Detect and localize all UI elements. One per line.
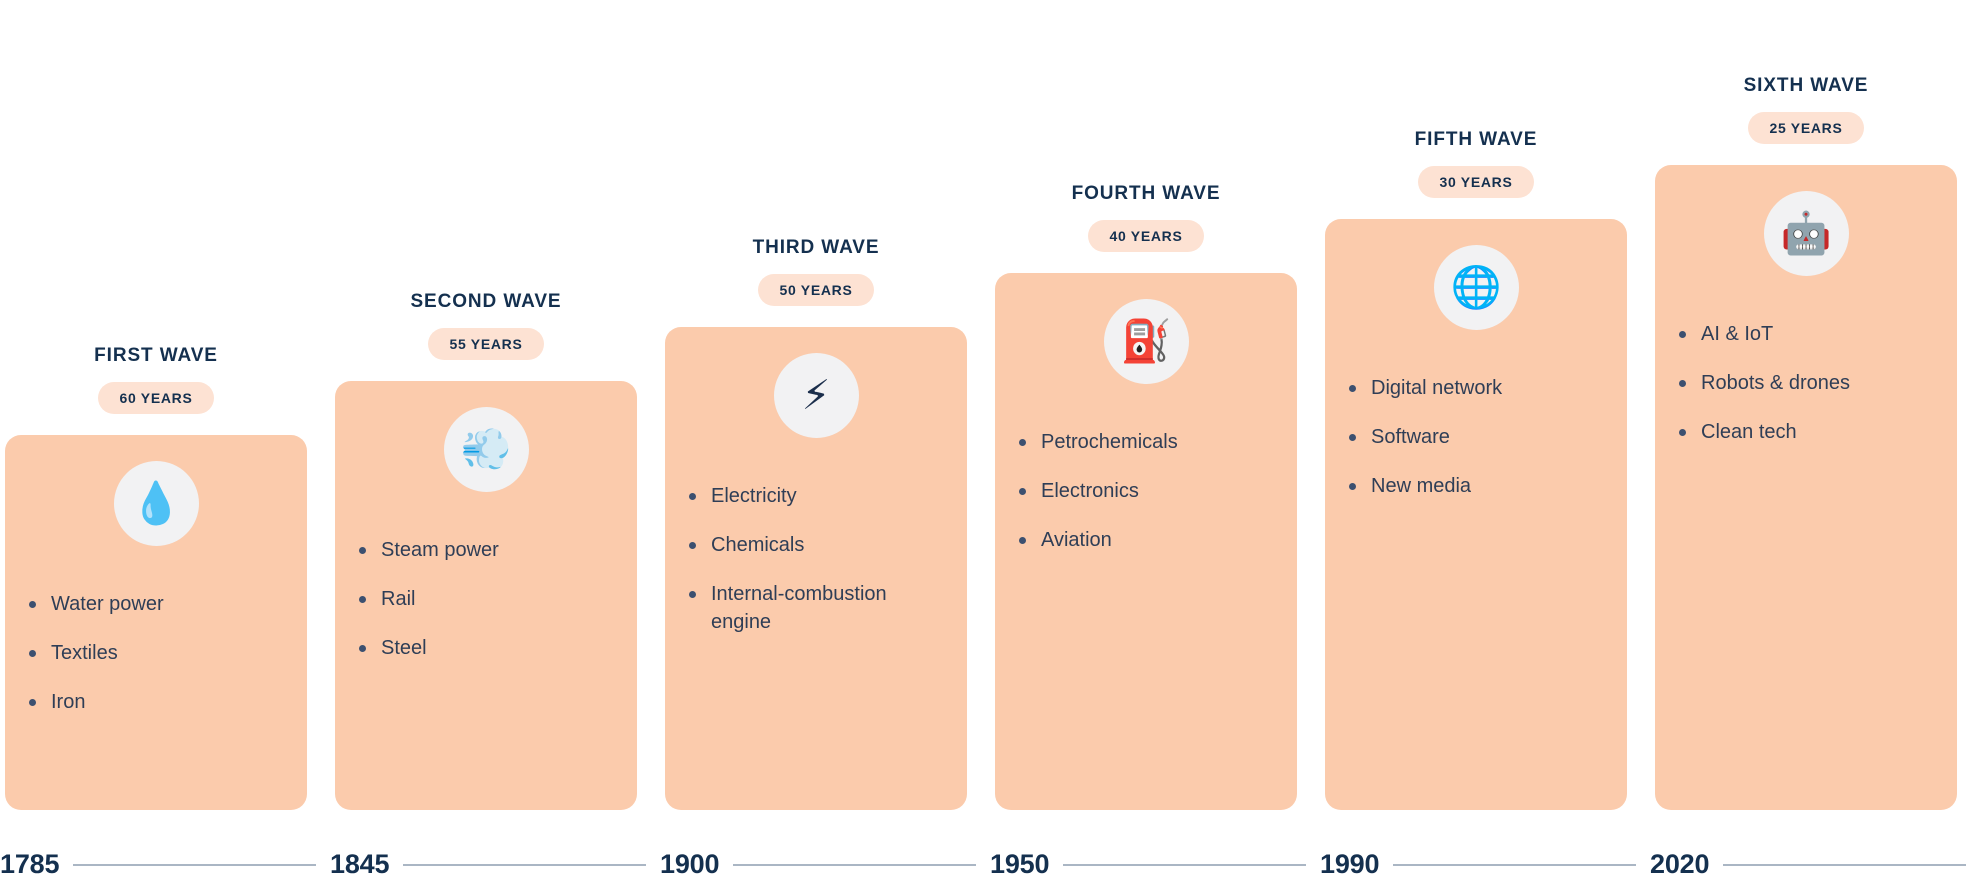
wave-card: 🌐Digital networkSoftwareNew media: [1325, 219, 1627, 810]
wave-card: 🤖AI & IoTRobots & dronesClean tech: [1655, 165, 1957, 810]
timeline-connector-line: [1063, 864, 1306, 866]
list-item: Textiles: [27, 639, 285, 667]
list-item: Chemicals: [687, 531, 945, 559]
wave-title: THIRD WAVE: [753, 238, 880, 257]
wave-duration-badge: 50 YEARS: [758, 274, 873, 306]
wave-column: SIXTH WAVE25 YEARS🤖AI & IoTRobots & dron…: [1655, 0, 1957, 810]
list-item: Petrochemicals: [1017, 428, 1275, 456]
list-item: Digital network: [1347, 374, 1605, 402]
robot-icon-glyph: 🤖: [1780, 213, 1831, 254]
list-item: AI & IoT: [1677, 320, 1935, 348]
timeline-tick: 1990: [1320, 851, 1650, 878]
timeline-tick: 1845: [330, 851, 660, 878]
list-item: Electronics: [1017, 477, 1275, 505]
wave-item-list: Digital networkSoftwareNew media: [1325, 374, 1627, 521]
timeline-year-label: 1990: [1320, 851, 1379, 878]
wave-title: FIRST WAVE: [94, 346, 218, 365]
wave-card: 💧Water powerTextilesIron: [5, 435, 307, 810]
list-item: Clean tech: [1677, 418, 1935, 446]
lightning-bolt-icon-glyph: ⚡: [802, 375, 831, 416]
wave-column: SECOND WAVE55 YEARS💨Steam powerRailSteel: [335, 0, 637, 810]
timeline-year-label: 1950: [990, 851, 1049, 878]
wave-item-list: Steam powerRailSteel: [335, 536, 637, 683]
timeline: 178518451900195019902020: [0, 845, 1980, 884]
list-item: Electricity: [687, 482, 945, 510]
timeline-tick: 1785: [0, 851, 330, 878]
list-item: Iron: [27, 688, 285, 716]
timeline-tick: 2020: [1650, 851, 1980, 878]
wave-column: THIRD WAVE50 YEARS⚡ElectricityChemicalsI…: [665, 0, 967, 810]
wave-column: FOURTH WAVE40 YEARS⛽PetrochemicalsElectr…: [995, 0, 1297, 810]
wave-item-list: AI & IoTRobots & dronesClean tech: [1655, 320, 1957, 467]
wave-column: FIFTH WAVE30 YEARS🌐Digital networkSoftwa…: [1325, 0, 1627, 810]
list-item: Aviation: [1017, 526, 1275, 554]
wave-duration-badge: 60 YEARS: [98, 382, 213, 414]
wave-item-list: PetrochemicalsElectronicsAviation: [995, 428, 1297, 575]
globe-network-icon: 🌐: [1434, 245, 1519, 330]
fuel-pump-icon: ⛽: [1104, 299, 1189, 384]
timeline-connector-line: [403, 864, 646, 866]
waves-row: FIRST WAVE60 YEARS💧Water powerTextilesIr…: [5, 0, 1980, 810]
fuel-pump-icon-glyph: ⛽: [1120, 321, 1171, 362]
steam-cloud-icon: 💨: [444, 407, 529, 492]
wave-card: 💨Steam powerRailSteel: [335, 381, 637, 810]
wave-item-list: Water powerTextilesIron: [5, 590, 307, 737]
list-item: Software: [1347, 423, 1605, 451]
timeline-connector-line: [733, 864, 976, 866]
robot-icon: 🤖: [1764, 191, 1849, 276]
list-item: Water power: [27, 590, 285, 618]
list-item: Steam power: [357, 536, 615, 564]
wave-duration-badge: 55 YEARS: [428, 328, 543, 360]
timeline-tick: 1900: [660, 851, 990, 878]
wave-duration-badge: 25 YEARS: [1748, 112, 1863, 144]
list-item: Steel: [357, 634, 615, 662]
wave-title: SECOND WAVE: [410, 292, 561, 311]
wave-title: FIFTH WAVE: [1415, 130, 1538, 149]
wave-item-list: ElectricityChemicalsInternal-combustion …: [665, 482, 967, 657]
timeline-year-label: 1785: [0, 851, 59, 878]
water-drop-icon-glyph: 💧: [130, 483, 181, 524]
list-item: Rail: [357, 585, 615, 613]
wave-title: SIXTH WAVE: [1744, 76, 1869, 95]
wave-card: ⚡ElectricityChemicalsInternal-combustion…: [665, 327, 967, 810]
list-item: Internal-combustion engine: [687, 580, 945, 636]
list-item: New media: [1347, 472, 1605, 500]
wave-title: FOURTH WAVE: [1072, 184, 1221, 203]
timeline-connector-line: [1723, 864, 1966, 866]
timeline-year-label: 2020: [1650, 851, 1709, 878]
timeline-tick: 1950: [990, 851, 1320, 878]
wave-duration-badge: 30 YEARS: [1418, 166, 1533, 198]
timeline-connector-line: [1393, 864, 1636, 866]
wave-column: FIRST WAVE60 YEARS💧Water powerTextilesIr…: [5, 0, 307, 810]
timeline-connector-line: [73, 864, 316, 866]
list-item: Robots & drones: [1677, 369, 1935, 397]
globe-network-icon-glyph: 🌐: [1450, 267, 1501, 308]
wave-duration-badge: 40 YEARS: [1088, 220, 1203, 252]
wave-card: ⛽PetrochemicalsElectronicsAviation: [995, 273, 1297, 810]
lightning-bolt-icon: ⚡: [774, 353, 859, 438]
steam-cloud-icon-glyph: 💨: [460, 429, 511, 470]
timeline-year-label: 1900: [660, 851, 719, 878]
timeline-year-label: 1845: [330, 851, 389, 878]
water-drop-icon: 💧: [114, 461, 199, 546]
